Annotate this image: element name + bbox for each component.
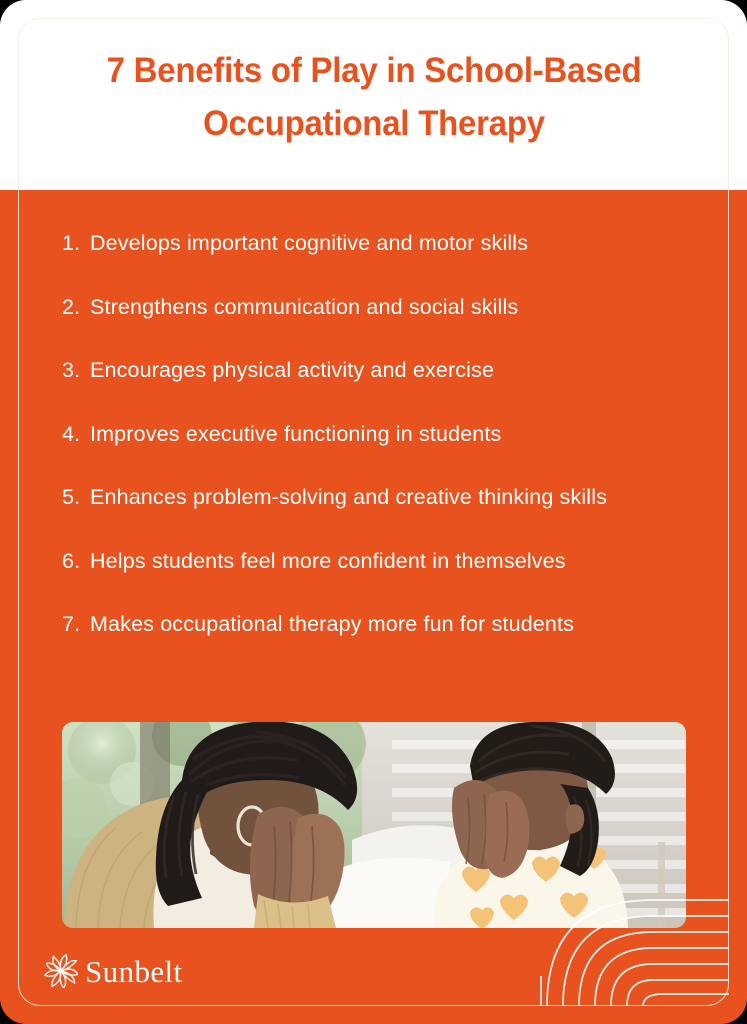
list-item: 6. Helps students feel more confident in…: [62, 546, 692, 577]
list-item-label: Encourages physical activity and exercis…: [90, 355, 655, 386]
infographic-page: 7 Benefits of Play in School-Based Occup…: [0, 0, 747, 1024]
list-item: 3. Encourages physical activity and exer…: [62, 355, 692, 386]
list-item-number: 1.: [62, 228, 90, 259]
list-item-number: 7.: [62, 609, 90, 640]
list-item-label: Enhances problem-solving and creative th…: [90, 482, 655, 513]
list-item: 5. Enhances problem-solving and creative…: [62, 482, 692, 513]
sunburst-icon: [44, 954, 78, 988]
logo-wordmark: Sunbelt: [85, 956, 183, 987]
title-container: 7 Benefits of Play in School-Based Occup…: [44, 44, 704, 150]
list-item-number: 2.: [62, 292, 90, 323]
list-item: 4. Improves executive functioning in stu…: [62, 419, 692, 450]
page-title: 7 Benefits of Play in School-Based Occup…: [64, 44, 684, 150]
list-item-number: 5.: [62, 482, 90, 513]
sunbelt-logo: Sunbelt: [44, 954, 183, 988]
list-item-number: 6.: [62, 546, 90, 577]
list-item-label: Strengthens communication and social ski…: [90, 292, 655, 323]
benefits-list: 1. Develops important cognitive and moto…: [62, 228, 692, 640]
list-item: 2. Strengthens communication and social …: [62, 292, 692, 323]
photo-peekaboo: [62, 722, 686, 928]
list-item-label: Improves executive functioning in studen…: [90, 419, 655, 450]
list-item-label: Helps students feel more confident in th…: [90, 546, 655, 577]
list-item-number: 4.: [62, 419, 90, 450]
list-item: 1. Develops important cognitive and moto…: [62, 228, 692, 259]
list-item-number: 3.: [62, 355, 90, 386]
list-item: 7. Makes occupational therapy more fun f…: [62, 609, 692, 640]
list-item-label: Makes occupational therapy more fun for …: [90, 609, 655, 640]
list-item-label: Develops important cognitive and motor s…: [90, 228, 655, 259]
